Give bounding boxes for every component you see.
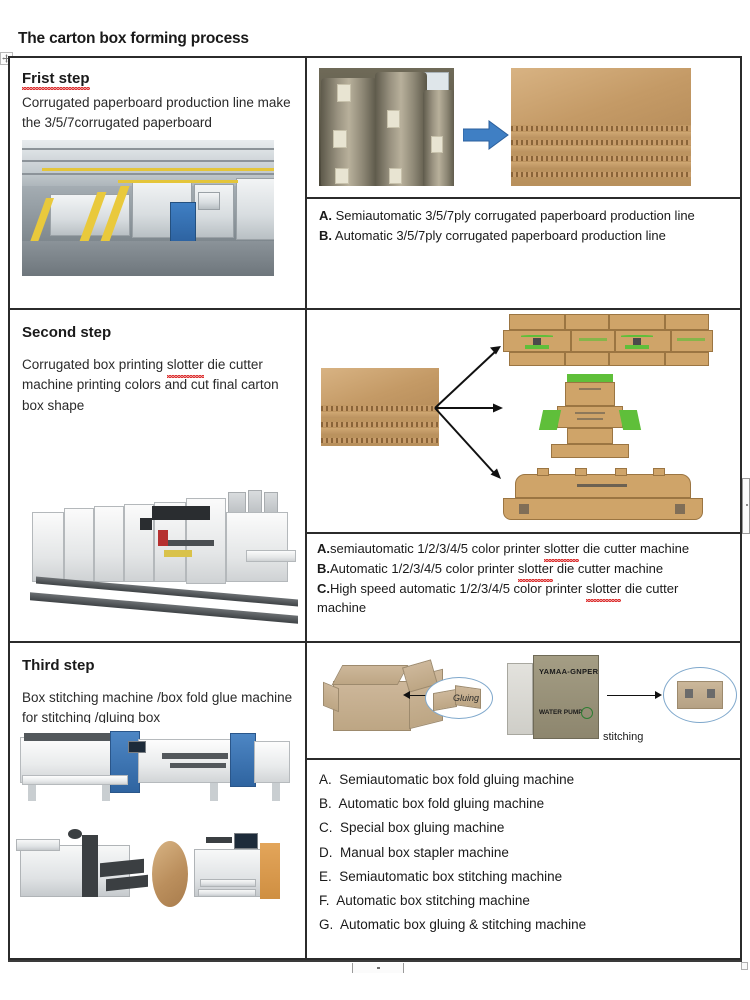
step2-option-a: A.semiautomatic 1/2/3/4/5 color printer …	[317, 540, 730, 559]
step1-option-b: B. Automatic 3/5/7ply corrugated paperbo…	[319, 227, 728, 246]
column-resize-handle[interactable]	[742, 478, 750, 534]
step2-option-a-text-before: semiautomatic 1/2/3/4/5 color printer	[330, 541, 544, 556]
step3-folder-gluer-photo	[10, 723, 294, 815]
step3-option-e-label: E.	[319, 869, 332, 884]
step1-option-a-label: A.	[319, 208, 332, 223]
stitching-label: stitching	[603, 731, 643, 743]
step1-diagram-cell	[307, 58, 740, 197]
step3-option-g: G. Automatic box gluing & stitching mach…	[319, 913, 728, 936]
step2-option-b-text-after: die cutter machine	[553, 561, 663, 576]
die-cut-tray-blank-layout	[503, 468, 703, 526]
step1-production-line-photo	[22, 140, 274, 276]
step3-option-f: F. Automatic box stitching machine	[319, 889, 728, 912]
step1-left-cell: Frist step Corrugated paperboard product…	[10, 58, 305, 308]
step2-option-a-text-after: die cutter machine	[579, 541, 689, 556]
gluing-arrow-head-icon	[403, 691, 410, 699]
step2-fanout-arrows-icon	[431, 340, 509, 490]
row-resize-handle[interactable]	[352, 963, 404, 973]
stitching-closeup-surface	[677, 681, 723, 709]
step2-desc-misspelled: slotter	[167, 355, 204, 375]
step3-option-d-text: Manual box stapler machine	[340, 845, 509, 860]
stitching-arrow-head-icon	[655, 691, 662, 699]
step2-options-cell: A.semiautomatic 1/2/3/4/5 color printer …	[307, 534, 740, 641]
staple-2-icon	[707, 689, 715, 698]
step2-diagram-cell	[307, 310, 740, 532]
step3-option-g-text: Automatic box gluing & stitching machine	[340, 917, 586, 932]
step2-desc-part1: Corrugated box printing	[22, 357, 167, 372]
step3-stitching-machines-photo	[10, 823, 300, 923]
step3-option-b-label: B.	[319, 796, 332, 811]
step2-left-cell: Second step Corrugated box printing slot…	[10, 310, 305, 641]
step1-option-a-text: Semiautomatic 3/5/7ply corrugated paperb…	[336, 208, 695, 223]
step1-option-list: A. Semiautomatic 3/5/7ply corrugated pap…	[319, 207, 728, 246]
step2-option-c: C.High speed automatic 1/2/3/4/5 color p…	[317, 580, 730, 618]
step2-option-b-label: B.	[317, 561, 330, 576]
step2-option-c-misspelled: slotter	[586, 580, 621, 599]
table-corner-handle[interactable]	[741, 962, 748, 970]
step1-description: Corrugated paperboard production line ma…	[22, 93, 295, 134]
step3-heading: Third step	[22, 657, 95, 674]
step1-option-b-label: B.	[319, 228, 332, 243]
step1-heading-text: Frist step	[22, 70, 90, 87]
step2-option-b: B.Automatic 1/2/3/4/5 color printer slot…	[317, 560, 730, 579]
step3-option-b-text: Automatic box fold gluing machine	[339, 796, 545, 811]
step1-options-cell: A. Semiautomatic 3/5/7ply corrugated pap…	[307, 199, 740, 308]
step3-options-cell: A. Semiautomatic box fold gluing machine…	[307, 760, 740, 958]
paper-roll-stack-photo	[319, 68, 454, 186]
stitching-arrow-line	[607, 695, 657, 696]
step3-left-cell: Third step Box stitching machine /box fo…	[10, 643, 305, 958]
step3-diagram-cell: Gluing YAMAA-GNPER WATER PUMP stitching	[307, 643, 740, 758]
printed-closed-carton-box-photo: YAMAA-GNPER WATER PUMP	[507, 655, 603, 745]
step2-printer-slotter-photo	[16, 488, 300, 636]
step3-option-c-label: C.	[319, 820, 333, 835]
blue-right-arrow-icon	[463, 120, 509, 150]
closed-box-brand: YAMAA-GNPER	[539, 667, 598, 676]
step2-option-c-label: C.	[317, 581, 330, 596]
step3-option-g-label: G.	[319, 917, 333, 932]
step2-option-b-misspelled: slotter	[518, 560, 553, 579]
gluing-label: Gluing	[453, 693, 479, 703]
step3-option-a: A. Semiautomatic box fold gluing machine	[319, 768, 728, 791]
step2-option-a-label: A.	[317, 541, 330, 556]
page-title: The carton box forming process	[18, 30, 249, 48]
step3-option-e-text: Semiautomatic box stitching machine	[339, 869, 562, 884]
step3-option-a-label: A.	[319, 772, 332, 787]
step2-option-a-misspelled: slotter	[544, 540, 579, 559]
step2-source-board-photo	[321, 368, 439, 446]
step3-option-f-label: F.	[319, 893, 330, 908]
corrugated-board-sheets-photo	[511, 68, 691, 186]
step2-option-list: A.semiautomatic 1/2/3/4/5 color printer …	[317, 540, 730, 617]
process-table: Frist step Corrugated paperboard product…	[8, 56, 742, 960]
step3-option-d-label: D.	[319, 845, 333, 860]
step3-option-b: B. Automatic box fold gluing machine	[319, 792, 728, 815]
step2-heading: Second step	[22, 324, 111, 341]
document-page: The carton box forming process Frist ste…	[0, 0, 750, 1000]
step3-option-c-text: Special box gluing machine	[340, 820, 504, 835]
table-bottom-rule	[8, 960, 742, 962]
step3-option-e: E. Semiautomatic box stitching machine	[319, 865, 728, 888]
step1-heading: Frist step	[22, 70, 90, 87]
rsc-box-blank-flat-layout	[503, 314, 713, 366]
staple-1-icon	[685, 689, 693, 698]
step2-option-c-text-before: High speed automatic 1/2/3/4/5 color pri…	[330, 581, 586, 596]
step1-option-a: A. Semiautomatic 3/5/7ply corrugated pap…	[319, 207, 728, 226]
die-cut-box-blank-with-green-print	[537, 374, 643, 466]
closed-box-green-logo-icon	[581, 707, 593, 719]
gluing-arrow-line	[407, 695, 427, 696]
step2-description: Corrugated box printing slotter die cutt…	[22, 355, 295, 416]
step3-option-f-text: Automatic box stitching machine	[336, 893, 530, 908]
step2-option-b-text-before: Automatic 1/2/3/4/5 color printer	[330, 561, 518, 576]
step3-option-d: D. Manual box stapler machine	[319, 841, 728, 864]
closed-box-subtext: WATER PUMP	[539, 709, 583, 716]
step3-option-list: A. Semiautomatic box fold gluing machine…	[319, 768, 728, 937]
step1-option-b-text: Automatic 3/5/7ply corrugated paperboard…	[335, 228, 666, 243]
step3-option-c: C. Special box gluing machine	[319, 816, 728, 839]
step3-option-a-text: Semiautomatic box fold gluing machine	[339, 772, 574, 787]
